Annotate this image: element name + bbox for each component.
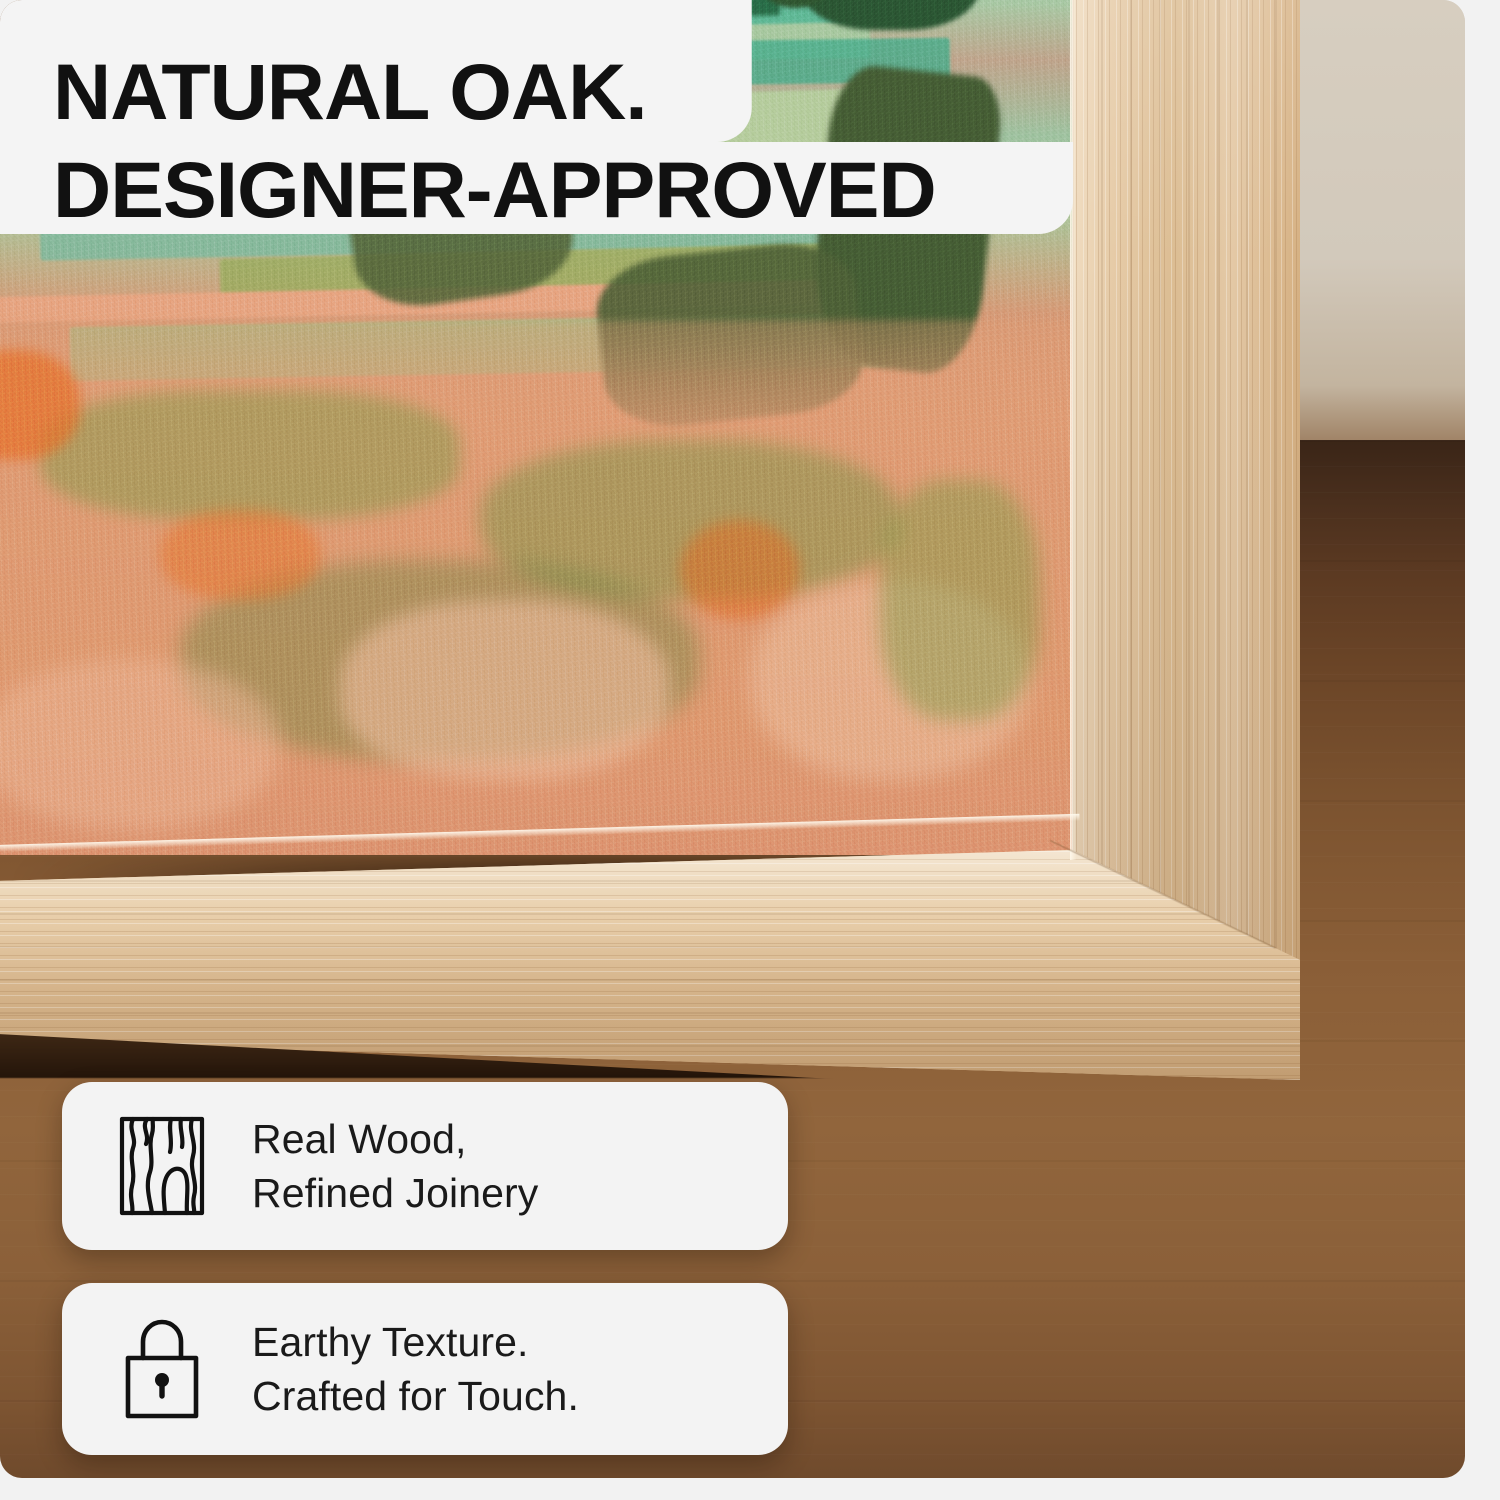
feature-line-1: Real Wood, [252, 1112, 538, 1166]
feature-card-list: Real Wood, Refined Joinery Earthy Textur… [62, 1082, 788, 1455]
lock-icon [110, 1317, 214, 1421]
feature-line-2: Refined Joinery [252, 1166, 538, 1220]
headline-line-1: NATURAL OAK. [0, 0, 752, 142]
product-image-canvas: NATURAL OAK. DESIGNER-APPROVED [0, 0, 1500, 1500]
feature-card-earthy-texture[interactable]: Earthy Texture. Crafted for Touch. [62, 1283, 788, 1455]
lifestyle-photo: NATURAL OAK. DESIGNER-APPROVED [0, 0, 1465, 1478]
feature-line-1: Earthy Texture. [252, 1315, 579, 1369]
feature-card-real-wood[interactable]: Real Wood, Refined Joinery [62, 1082, 788, 1250]
wood-grain-icon [110, 1114, 214, 1218]
feature-card-text: Earthy Texture. Crafted for Touch. [252, 1315, 579, 1423]
frame-rail-right-shading [1072, 0, 1300, 960]
headline-line-2: DESIGNER-APPROVED [0, 142, 1073, 234]
feature-line-2: Crafted for Touch. [252, 1369, 579, 1423]
headline-block: NATURAL OAK. DESIGNER-APPROVED [0, 0, 1052, 234]
feature-card-text: Real Wood, Refined Joinery [252, 1112, 538, 1220]
frame-inner-lip-vertical [1070, 0, 1076, 860]
frame-rail-right [1072, 0, 1300, 960]
